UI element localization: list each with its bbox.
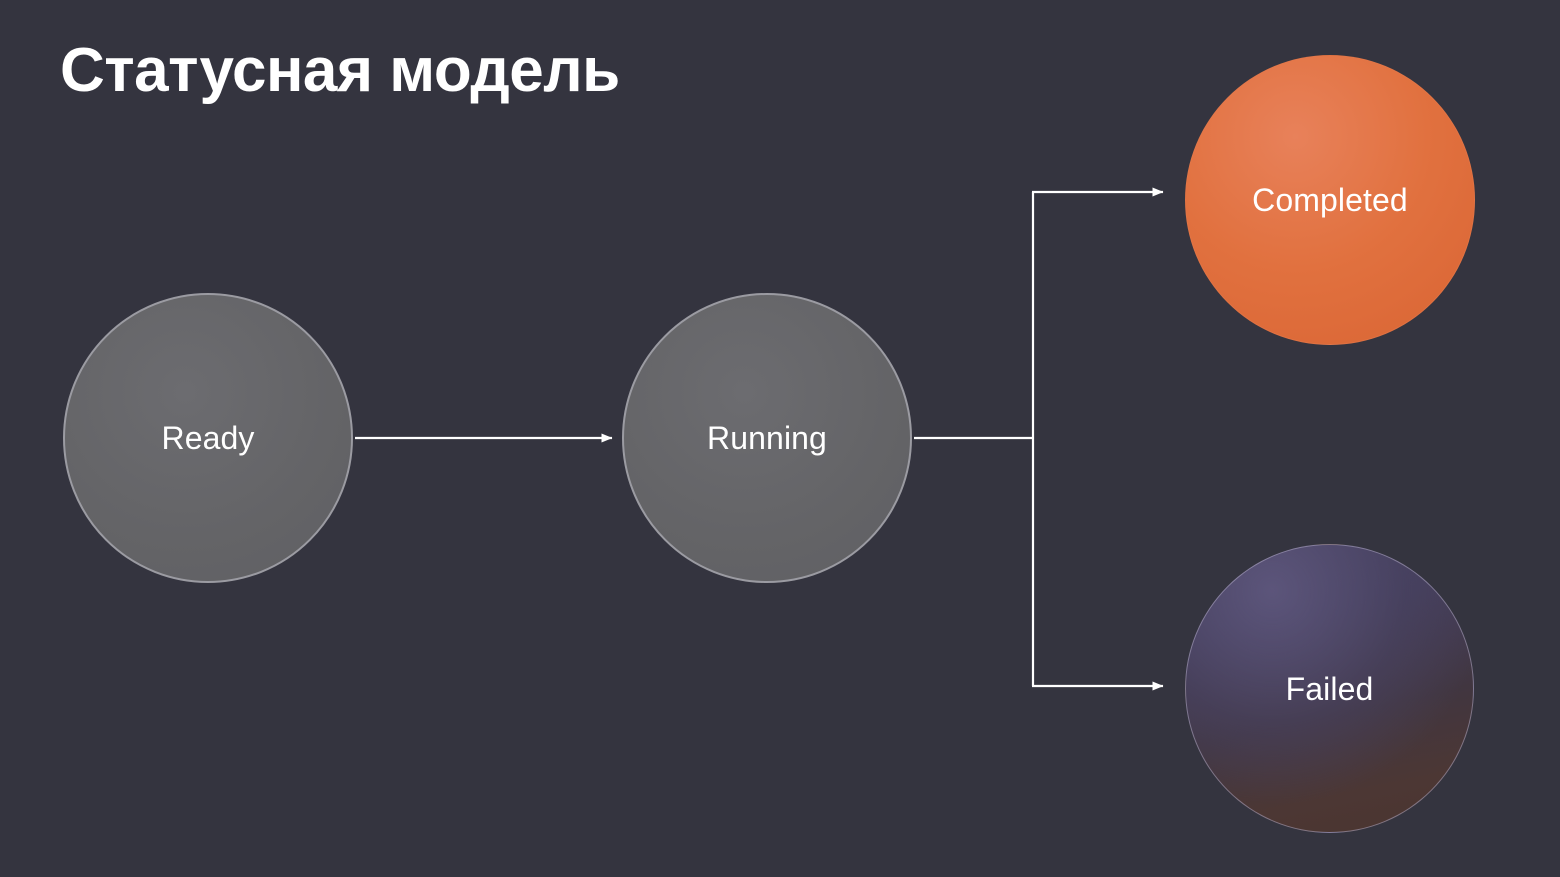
state-node-label: Completed bbox=[1252, 184, 1408, 216]
state-node-label: Running bbox=[707, 422, 827, 454]
state-node-label: Failed bbox=[1286, 673, 1374, 705]
state-node-completed[interactable]: Completed bbox=[1185, 55, 1475, 345]
state-node-failed[interactable]: Failed bbox=[1185, 544, 1474, 833]
page-title: Статусная модель bbox=[60, 38, 620, 103]
edge-running-branch-stem bbox=[914, 192, 1033, 686]
state-node-running[interactable]: Running bbox=[622, 293, 912, 583]
state-node-ready[interactable]: Ready bbox=[63, 293, 353, 583]
slide-canvas: Статусная модель Ready Running bbox=[0, 0, 1560, 877]
state-node-label: Ready bbox=[162, 422, 255, 454]
